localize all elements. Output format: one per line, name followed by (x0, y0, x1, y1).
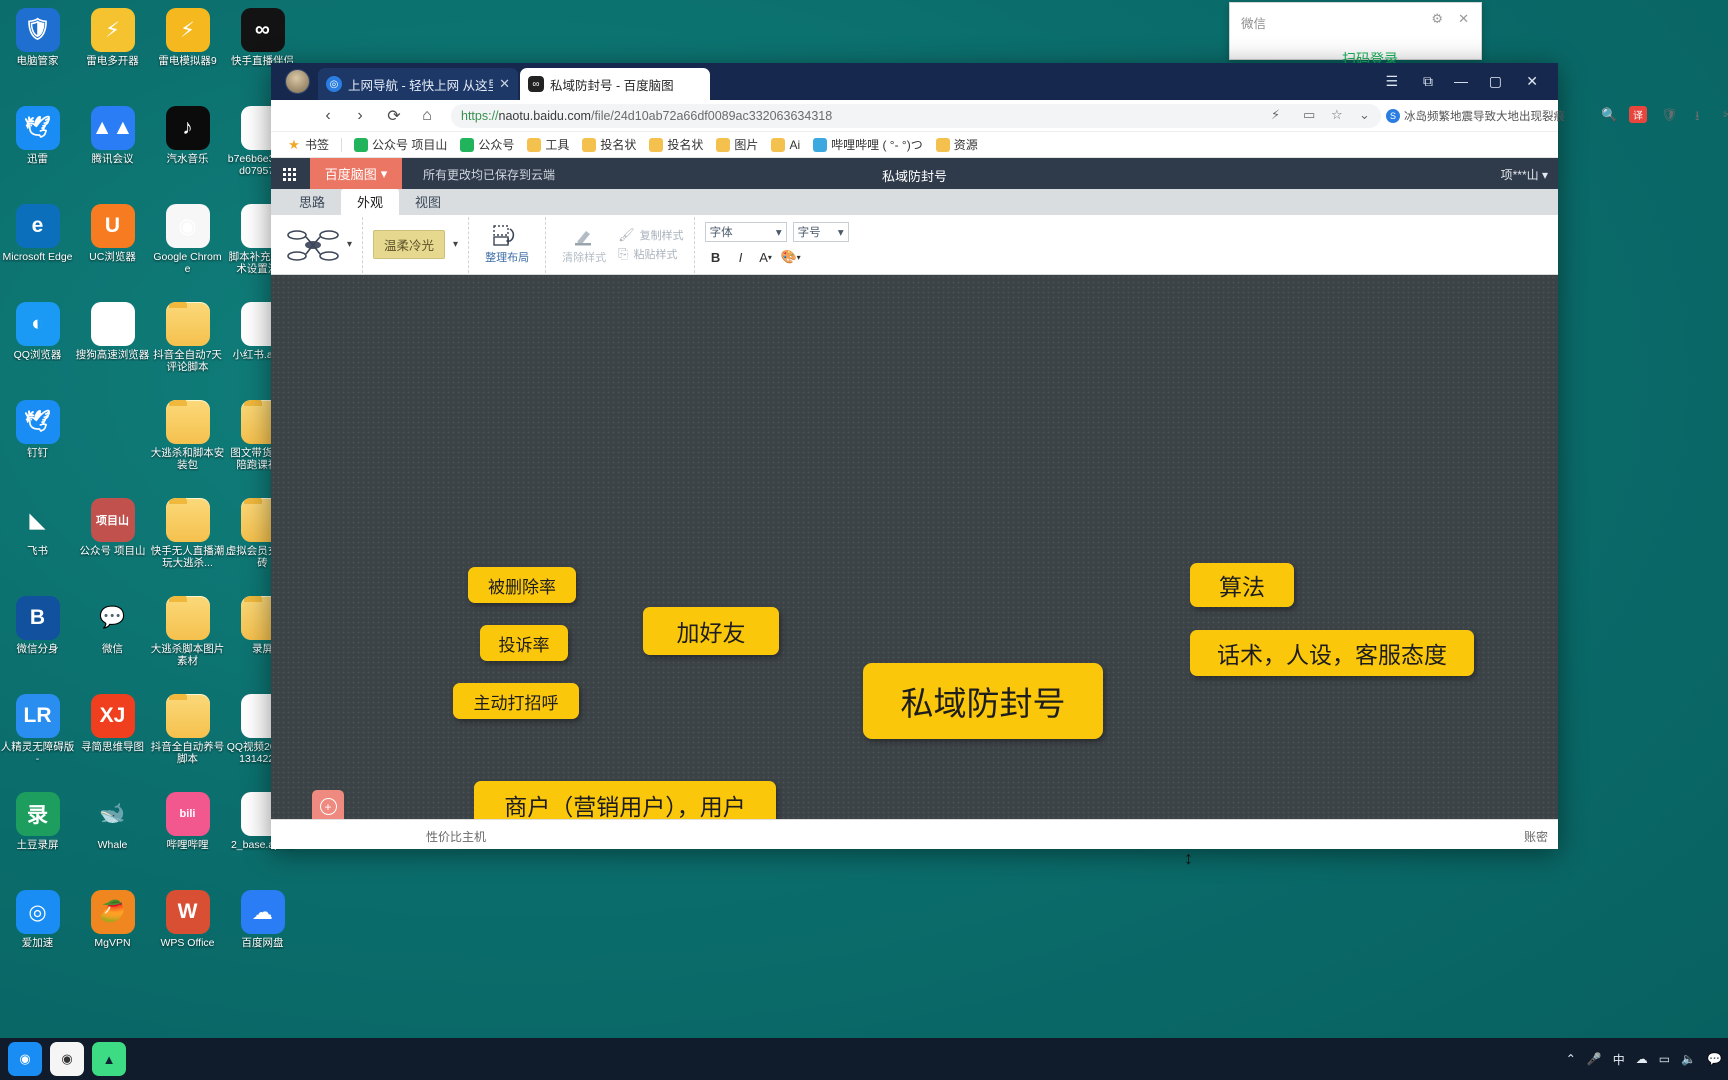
desktop-icon-4[interactable]: 🕊迅雷 (0, 106, 75, 204)
shield-icon[interactable]: 🛡 (1661, 107, 1678, 123)
qishui-music-icon: ♪ (166, 106, 210, 150)
wps-office-icon: W (166, 890, 210, 934)
desktop-icon-26[interactable]: 大逃杀脚本图片素材 (150, 596, 225, 694)
wechat-popup-title: 微信 (1241, 13, 1266, 32)
desktop-icon-30[interactable]: 抖音全自动养号脚本 (150, 694, 225, 792)
desktop-icon-6[interactable]: ♪汽水音乐 (150, 106, 225, 204)
folder-icon (716, 138, 730, 152)
arrange-layout-button[interactable]: 整理布局 (479, 225, 535, 265)
start-icon[interactable]: ◉ (8, 1042, 42, 1076)
font-size-value: 字号 (798, 224, 821, 240)
bookmark-9[interactable]: 资源 (932, 135, 982, 154)
desktop-icon-32[interactable]: 录土豆录屏 (0, 792, 75, 890)
tencent-meeting-icon: ▲▲ (91, 106, 135, 150)
ribbon-group-arrange: 整理布局 (469, 217, 546, 273)
sogou-icon (354, 138, 368, 152)
theme-selector[interactable]: 温柔冷光 (373, 230, 445, 259)
whale-icon: 🐋 (91, 792, 135, 836)
bookmark-label: 工具 (545, 136, 569, 153)
chevron-down-icon[interactable]: ▾ (453, 239, 458, 250)
desktop-icon-39[interactable]: ☁百度网盘 (225, 890, 300, 988)
chevron-down-icon[interactable]: ▾ (347, 239, 352, 250)
cloud-icon[interactable]: ☁ (1636, 1052, 1648, 1066)
folder-icon (527, 138, 541, 152)
lightning-icon[interactable]: ⚡ (1271, 107, 1280, 123)
aijiasu-icon: ◎ (16, 890, 60, 934)
desktop-icon-37[interactable]: 🥭MgVPN (75, 890, 150, 988)
bookmark-label: 公众号 项目山 (372, 136, 447, 153)
desktop-icon-34[interactable]: bili哔哩哔哩 (150, 792, 225, 890)
desktop-icon-14[interactable]: 抖音全自动7天评论脚本 (150, 302, 225, 400)
desktop-icon-label: 大逃杀和脚本安装包 (151, 447, 225, 471)
plus-circle-icon[interactable]: + (320, 798, 337, 815)
home-button[interactable]: ⌂ (416, 105, 438, 127)
desktop-icon-22[interactable]: 快手无人直播潮玩大逃杀... (150, 498, 225, 596)
naotu-icon: ∞ (528, 76, 544, 92)
bookmark-label: 哔哩哔哩 ( °- °)つ (831, 136, 923, 153)
ribbon-tabs: 思路 外观 视图 (271, 189, 1558, 215)
desktop-icon-label: 大逃杀脚本图片素材 (151, 643, 225, 667)
mindmap-structure-icon[interactable] (281, 228, 345, 262)
desktop-icon-label: Microsoft Edge (1, 251, 75, 263)
bookmark-label: 书签 (305, 136, 329, 153)
gear-icon[interactable]: ⚙ (1431, 11, 1443, 27)
copy-style-button[interactable]: 🖌 复制样式 (618, 227, 684, 243)
bookmark-label: 投名状 (600, 136, 636, 153)
android-icon[interactable]: ▲ (92, 1042, 126, 1076)
chevron-down-icon: ▾ (768, 253, 772, 262)
paste-style-label: 粘贴样式 (633, 246, 677, 262)
thunder-icon: 🕊 (16, 106, 60, 150)
bookmark-label: Ai (789, 138, 800, 152)
desktop-icon-20[interactable]: ◣飞书 (0, 498, 75, 596)
desktop-icon-28[interactable]: LR人精灵无障碍版 - (0, 694, 75, 792)
browser-window: ◎ 上网导航 - 轻快上网 从这里开始 ✕ ∞ 私域防封号 - 百度脑图 ☰ ⧉… (271, 63, 1558, 849)
xiangmushan-icon: 项目山 (91, 498, 135, 542)
desktop-icon-38[interactable]: WWPS Office (150, 890, 225, 988)
user-menu[interactable]: 项***山 ▾ (1501, 166, 1548, 183)
folder-icon (582, 138, 596, 152)
browser-tab-0-label: 上网导航 - 轻快上网 从这里开始 (348, 75, 493, 94)
desktop-icon-1[interactable]: ⚡雷电多开器 (75, 8, 150, 106)
font-family-select[interactable]: 字体 ▾ (705, 222, 787, 242)
desktop-icon-5[interactable]: ▲▲腾讯会议 (75, 106, 150, 204)
desktop-icon-0[interactable]: 🛡电脑管家 (0, 8, 75, 106)
desktop-icon-29[interactable]: XJ寻简思维导图 (75, 694, 150, 792)
address-bar[interactable]: https://naotu.baidu.com/file/24d10ab72a6… (451, 104, 1381, 128)
app-header: 百度脑图 ▾ 所有更改均已保存到云端 私域防封号 项***山 ▾ (271, 158, 1558, 189)
mindmap-node-3[interactable]: 主动打招呼 (453, 683, 579, 719)
desktop-icon-grid: 🛡电脑管家⚡雷电多开器⚡雷电模拟器9∞快手直播伴侣🕊迅雷▲▲腾讯会议♪汽水音乐b… (0, 0, 300, 1010)
scissors-icon[interactable]: ✂ (1723, 107, 1728, 123)
desktop-icon-label: 公众号 项目山 (76, 545, 150, 557)
divider (341, 138, 342, 152)
shield-icon: 🛡 (16, 8, 60, 52)
reading-mode-icon[interactable]: ▭ (1303, 107, 1315, 123)
ribbon-toolbar: ▾ 温柔冷光 ▾ 整理布局 (271, 215, 1558, 275)
chevron-down-icon: ▾ (797, 253, 801, 262)
desktop-icon-36[interactable]: ◎爱加速 (0, 890, 75, 988)
desktop-icon-label: 抖音全自动7天评论脚本 (151, 349, 225, 373)
desktop-icon-label: 汽水音乐 (151, 153, 225, 165)
sound-icon[interactable]: 🔈 (1681, 1052, 1696, 1066)
desktop-icon-10[interactable]: ◉Google Chrome (150, 204, 225, 302)
account-label: 账密 (1524, 828, 1548, 845)
lr-icon: LR (16, 694, 60, 738)
copy-style-icon: 🖌 (618, 227, 635, 243)
desktop-icon-label: 人精灵无障碍版 - (1, 741, 75, 765)
mindmap-edges (271, 275, 571, 425)
ribbon-group-theme: 温柔冷光 ▾ (363, 217, 469, 273)
desktop-icon-label: 抖音全自动养号脚本 (151, 741, 225, 765)
desktop-icon-9[interactable]: UUC浏览器 (75, 204, 150, 302)
clear-style-label: 清除样式 (562, 249, 606, 265)
browser-tab-0[interactable]: ◎ 上网导航 - 轻快上网 从这里开始 ✕ (318, 68, 518, 100)
zoom-control-panel[interactable]: + − ✥ ✛ (312, 790, 344, 819)
chevron-down-icon: ▾ (1542, 168, 1548, 182)
desktop-icon-17 (75, 400, 150, 498)
horizontal-scrollbar[interactable]: 性价比主机 账密 (271, 819, 1558, 849)
desktop-icon-label: Whale (76, 839, 150, 851)
ldplayer-icon: ⚡ (166, 8, 210, 52)
desktop-icon-label: Google Chrome (151, 251, 225, 275)
status-message: 性价比主机 (426, 828, 486, 845)
chevron-down-icon: ▾ (776, 225, 782, 239)
mindmap-canvas[interactable]: 被删除率 投诉率 主动打招呼 加好友 商户（营销用户），用户 私域防封号 算法 … (271, 275, 1558, 819)
mindmap-node-7[interactable]: 话术，人设，客服态度 (1190, 630, 1474, 676)
minimize-button[interactable]: — (1454, 73, 1468, 89)
close-icon[interactable]: ✕ (499, 76, 510, 92)
browser-titlebar: ◎ 上网导航 - 轻快上网 从这里开始 ✕ ∞ 私域防封号 - 百度脑图 ☰ ⧉… (271, 63, 1558, 100)
folder-icon (166, 302, 210, 346)
paste-style-icon: ⎘ (618, 246, 628, 262)
chevron-down-icon: ▾ (838, 225, 844, 239)
desktop-icon-25[interactable]: 💬微信 (75, 596, 150, 694)
url-scheme: https:// (461, 109, 499, 123)
folder-icon (166, 596, 210, 640)
desktop-icon-label: 百度网盘 (226, 937, 300, 949)
bookmark-label: 公众号 (478, 136, 514, 153)
browser-tab-1-label: 私域防封号 - 百度脑图 (550, 75, 674, 94)
browser-tab-1[interactable]: ∞ 私域防封号 - 百度脑图 (520, 68, 710, 100)
font-family-value: 字体 (710, 224, 733, 240)
highlight-icon: 🎨 (780, 249, 796, 265)
copy-style-label: 复制样式 (640, 227, 684, 243)
font-color-label: A (759, 250, 768, 265)
bookmark-8[interactable]: 哔哩哔哩 ( °- °)つ (809, 135, 927, 154)
desktop-icon-8[interactable]: eMicrosoft Edge (0, 204, 75, 302)
url-host: naotu.baidu.com (499, 109, 591, 123)
search-suggestion[interactable]: S 冰岛频繁地震导致大地出现裂痕 (1386, 105, 1565, 127)
bookmark-1[interactable]: 公众号 项目山 (350, 135, 451, 154)
desktop-icon-33[interactable]: 🐋Whale (75, 792, 150, 890)
ribbon-group-font: 字体 ▾ 字号 ▾ B I A▾ (695, 217, 859, 273)
dingtalk-icon: 🕊 (16, 400, 60, 444)
tab-waiGuan[interactable]: 外观 (341, 189, 399, 215)
search-engine-icon: S (1386, 109, 1400, 123)
italic-button[interactable]: I (730, 247, 752, 267)
mgvpn-icon: 🥭 (91, 890, 135, 934)
chevron-down-icon[interactable]: ⌄ (1359, 107, 1370, 123)
bookmark-7[interactable]: Ai (767, 137, 804, 153)
wechat-icon: 💬 (91, 596, 135, 640)
search-icon[interactable]: 🔍 (1601, 107, 1617, 123)
taskbar: ◉ ◉ ▲ ⌃ 🎤 中 ☁ ▭ 🔈 💬 (0, 1038, 1728, 1080)
desktop-icon-label: 爱加速 (1, 937, 75, 949)
folder-icon (649, 138, 663, 152)
chrome-icon: ◉ (166, 204, 210, 248)
clear-style-button[interactable]: 清除样式 (556, 225, 612, 265)
desktop-icon-label: UC浏览器 (76, 251, 150, 263)
desktop-icon-label: 搜狗高速浏览器 (76, 349, 150, 361)
bookmark-0[interactable]: ★书签 (283, 135, 333, 154)
star-icon: ★ (287, 138, 301, 152)
mindmap-node-2[interactable]: 投诉率 (480, 625, 568, 661)
folder-icon (936, 138, 950, 152)
search-suggestion-text: 冰岛频繁地震导致大地出现裂痕 (1404, 108, 1565, 124)
desktop-icon-12[interactable]: ◐QQ浏览器 (0, 302, 75, 400)
desktop-icon-label: 哔哩哔哩 (151, 839, 225, 851)
ime-icon[interactable]: 中 (1613, 1051, 1625, 1068)
tudou-recorder-icon: 录 (16, 792, 60, 836)
action-center-icon[interactable]: 💬 (1707, 1052, 1722, 1066)
ldplayer-multi-icon: ⚡ (91, 8, 135, 52)
desktop-icon-2[interactable]: ⚡雷电模拟器9 (150, 8, 225, 106)
uc-browser-icon: U (91, 204, 135, 248)
user-name: 项***山 (1501, 168, 1539, 182)
wechat-icon (460, 138, 474, 152)
mouse-cursor: ↕ (1184, 848, 1193, 869)
desktop-icon-label: 微信 (76, 643, 150, 655)
mindmap-node-4[interactable]: 加好友 (643, 607, 779, 655)
font-color-button[interactable]: A▾ (755, 247, 777, 267)
system-tray: ⌃ 🎤 中 ☁ ▭ 🔈 💬 (1566, 1038, 1722, 1080)
maximize-button[interactable]: ▢ (1489, 73, 1502, 90)
bilibili-icon (813, 138, 827, 152)
desktop-icon-21[interactable]: 项目山公众号 项目山 (75, 498, 150, 596)
desktop-icon-label: 微信分身 (1, 643, 75, 655)
bookmark-5[interactable]: 投名状 (645, 135, 707, 154)
sogou-browser-icon: S (91, 302, 135, 346)
bookmark-4[interactable]: 投名状 (578, 135, 640, 154)
desktop-icon-label: 飞书 (1, 545, 75, 557)
folder-icon (166, 694, 210, 738)
tab-shiTu[interactable]: 视图 (399, 189, 457, 215)
document-title: 私域防封号 (271, 166, 1558, 185)
mic-icon[interactable]: 🎤 (1587, 1052, 1602, 1066)
desktop-icon-label: 快手无人直播潮玩大逃杀... (151, 545, 225, 569)
font-size-select[interactable]: 字号 ▾ (793, 222, 849, 242)
browser-navbar: ‹ › ⟳ ⌂ ↺ https://naotu.baidu.com/file/2… (271, 100, 1558, 132)
back-button[interactable]: ‹ (317, 105, 339, 127)
bookmark-label: 资源 (954, 136, 978, 153)
bookmarks-bar: ★书签公众号 项目山公众号工具投名状投名状图片Ai哔哩哔哩 ( °- °)つ资源 (271, 132, 1558, 158)
desktop-icon-label: WPS Office (151, 937, 225, 949)
bold-button[interactable]: B (705, 247, 727, 267)
desktop-icon-13[interactable]: S搜狗高速浏览器 (75, 302, 150, 400)
url-path: /file/24d10ab72a66df0089ac332063634318 (591, 109, 832, 123)
kuaishou-live-icon: ∞ (241, 8, 285, 52)
chrome-icon[interactable]: ◉ (50, 1042, 84, 1076)
wechat-login-popup[interactable]: 微信 ⚙ ✕ 扫码登录 (1229, 2, 1482, 60)
desktop-icon-label: QQ浏览器 (1, 349, 75, 361)
desktop-icon-label: MgVPN (76, 937, 150, 949)
mindmap-node-5[interactable]: 商户（营销用户），用户 (474, 781, 776, 819)
mindmap-root-node[interactable]: 私域防封号 (863, 663, 1103, 739)
desktop-icon-label: 土豆录屏 (1, 839, 75, 851)
desktop-icon-label: 迅雷 (1, 153, 75, 165)
naotu-app: 百度脑图 ▾ 所有更改均已保存到云端 私域防封号 项***山 ▾ 思路 外观 视… (271, 158, 1558, 849)
folder-icon (166, 498, 210, 542)
baidu-netdisk-icon: ☁ (241, 890, 285, 934)
forward-button[interactable]: › (349, 105, 371, 127)
bookmark-2[interactable]: 公众号 (456, 135, 518, 154)
tab-siLu[interactable]: 思路 (283, 189, 341, 215)
star-icon[interactable]: ☆ (1331, 107, 1343, 123)
desktop-icon-16[interactable]: 🕊钉钉 (0, 400, 75, 498)
desktop-icon-label: 腾讯会议 (76, 153, 150, 165)
bookmark-3[interactable]: 工具 (523, 135, 573, 154)
mindmap-node-1[interactable]: 被删除率 (468, 567, 576, 603)
desktop-icon-24[interactable]: B微信分身 (0, 596, 75, 694)
folder-icon (166, 400, 210, 444)
split-screen-icon[interactable]: ⧉ (1423, 73, 1433, 90)
bookmark-label: 投名状 (667, 136, 703, 153)
highlight-button[interactable]: 🎨▾ (780, 247, 802, 267)
bookmark-6[interactable]: 图片 (712, 135, 762, 154)
translate-badge-icon[interactable]: 译 (1629, 106, 1647, 123)
download-icon[interactable]: ⭳ (1695, 107, 1700, 129)
bookmark-label: 图片 (734, 136, 758, 153)
arrange-layout-label: 整理布局 (485, 249, 529, 265)
desktop-icon-label: 钉钉 (1, 447, 75, 459)
desktop-icon-label: 雷电多开器 (76, 55, 150, 67)
desktop-icon-label: 寻简思维导图 (76, 741, 150, 753)
mindmap-node-6[interactable]: 算法 (1190, 563, 1294, 607)
ribbon-group-styles: 清除样式 🖌 复制样式 ⎘ 粘贴样式 (546, 217, 695, 273)
browser-menu-icon[interactable]: ☰ (1385, 73, 1398, 90)
desktop-icon-label: 电脑管家 (1, 55, 75, 67)
close-icon[interactable]: ✕ (1458, 11, 1469, 27)
expand-tray-icon[interactable]: ⌃ (1566, 1052, 1576, 1066)
compass-icon: ◎ (326, 76, 342, 92)
paste-style-button[interactable]: ⎘ 粘贴样式 (618, 246, 684, 262)
feishu-icon: ◣ (16, 498, 60, 542)
qq-browser-icon: ◐ (16, 302, 60, 346)
edge-icon: e (16, 204, 60, 248)
desktop-icon-18[interactable]: 大逃杀和脚本安装包 (150, 400, 225, 498)
ribbon-group-structure: ▾ (271, 217, 363, 273)
reload-button[interactable]: ⟳ (383, 105, 405, 127)
wechat-clone-icon: B (16, 596, 60, 640)
bilibili-icon: bili (166, 792, 210, 836)
folder-icon (771, 138, 785, 152)
blank-icon (91, 400, 135, 444)
desktop-icon-label: 雷电模拟器9 (151, 55, 225, 67)
avatar[interactable] (285, 69, 310, 94)
close-button[interactable]: ✕ (1526, 73, 1538, 90)
xunjian-mindmap-icon: XJ (91, 694, 135, 738)
display-icon[interactable]: ▭ (1659, 1052, 1670, 1066)
